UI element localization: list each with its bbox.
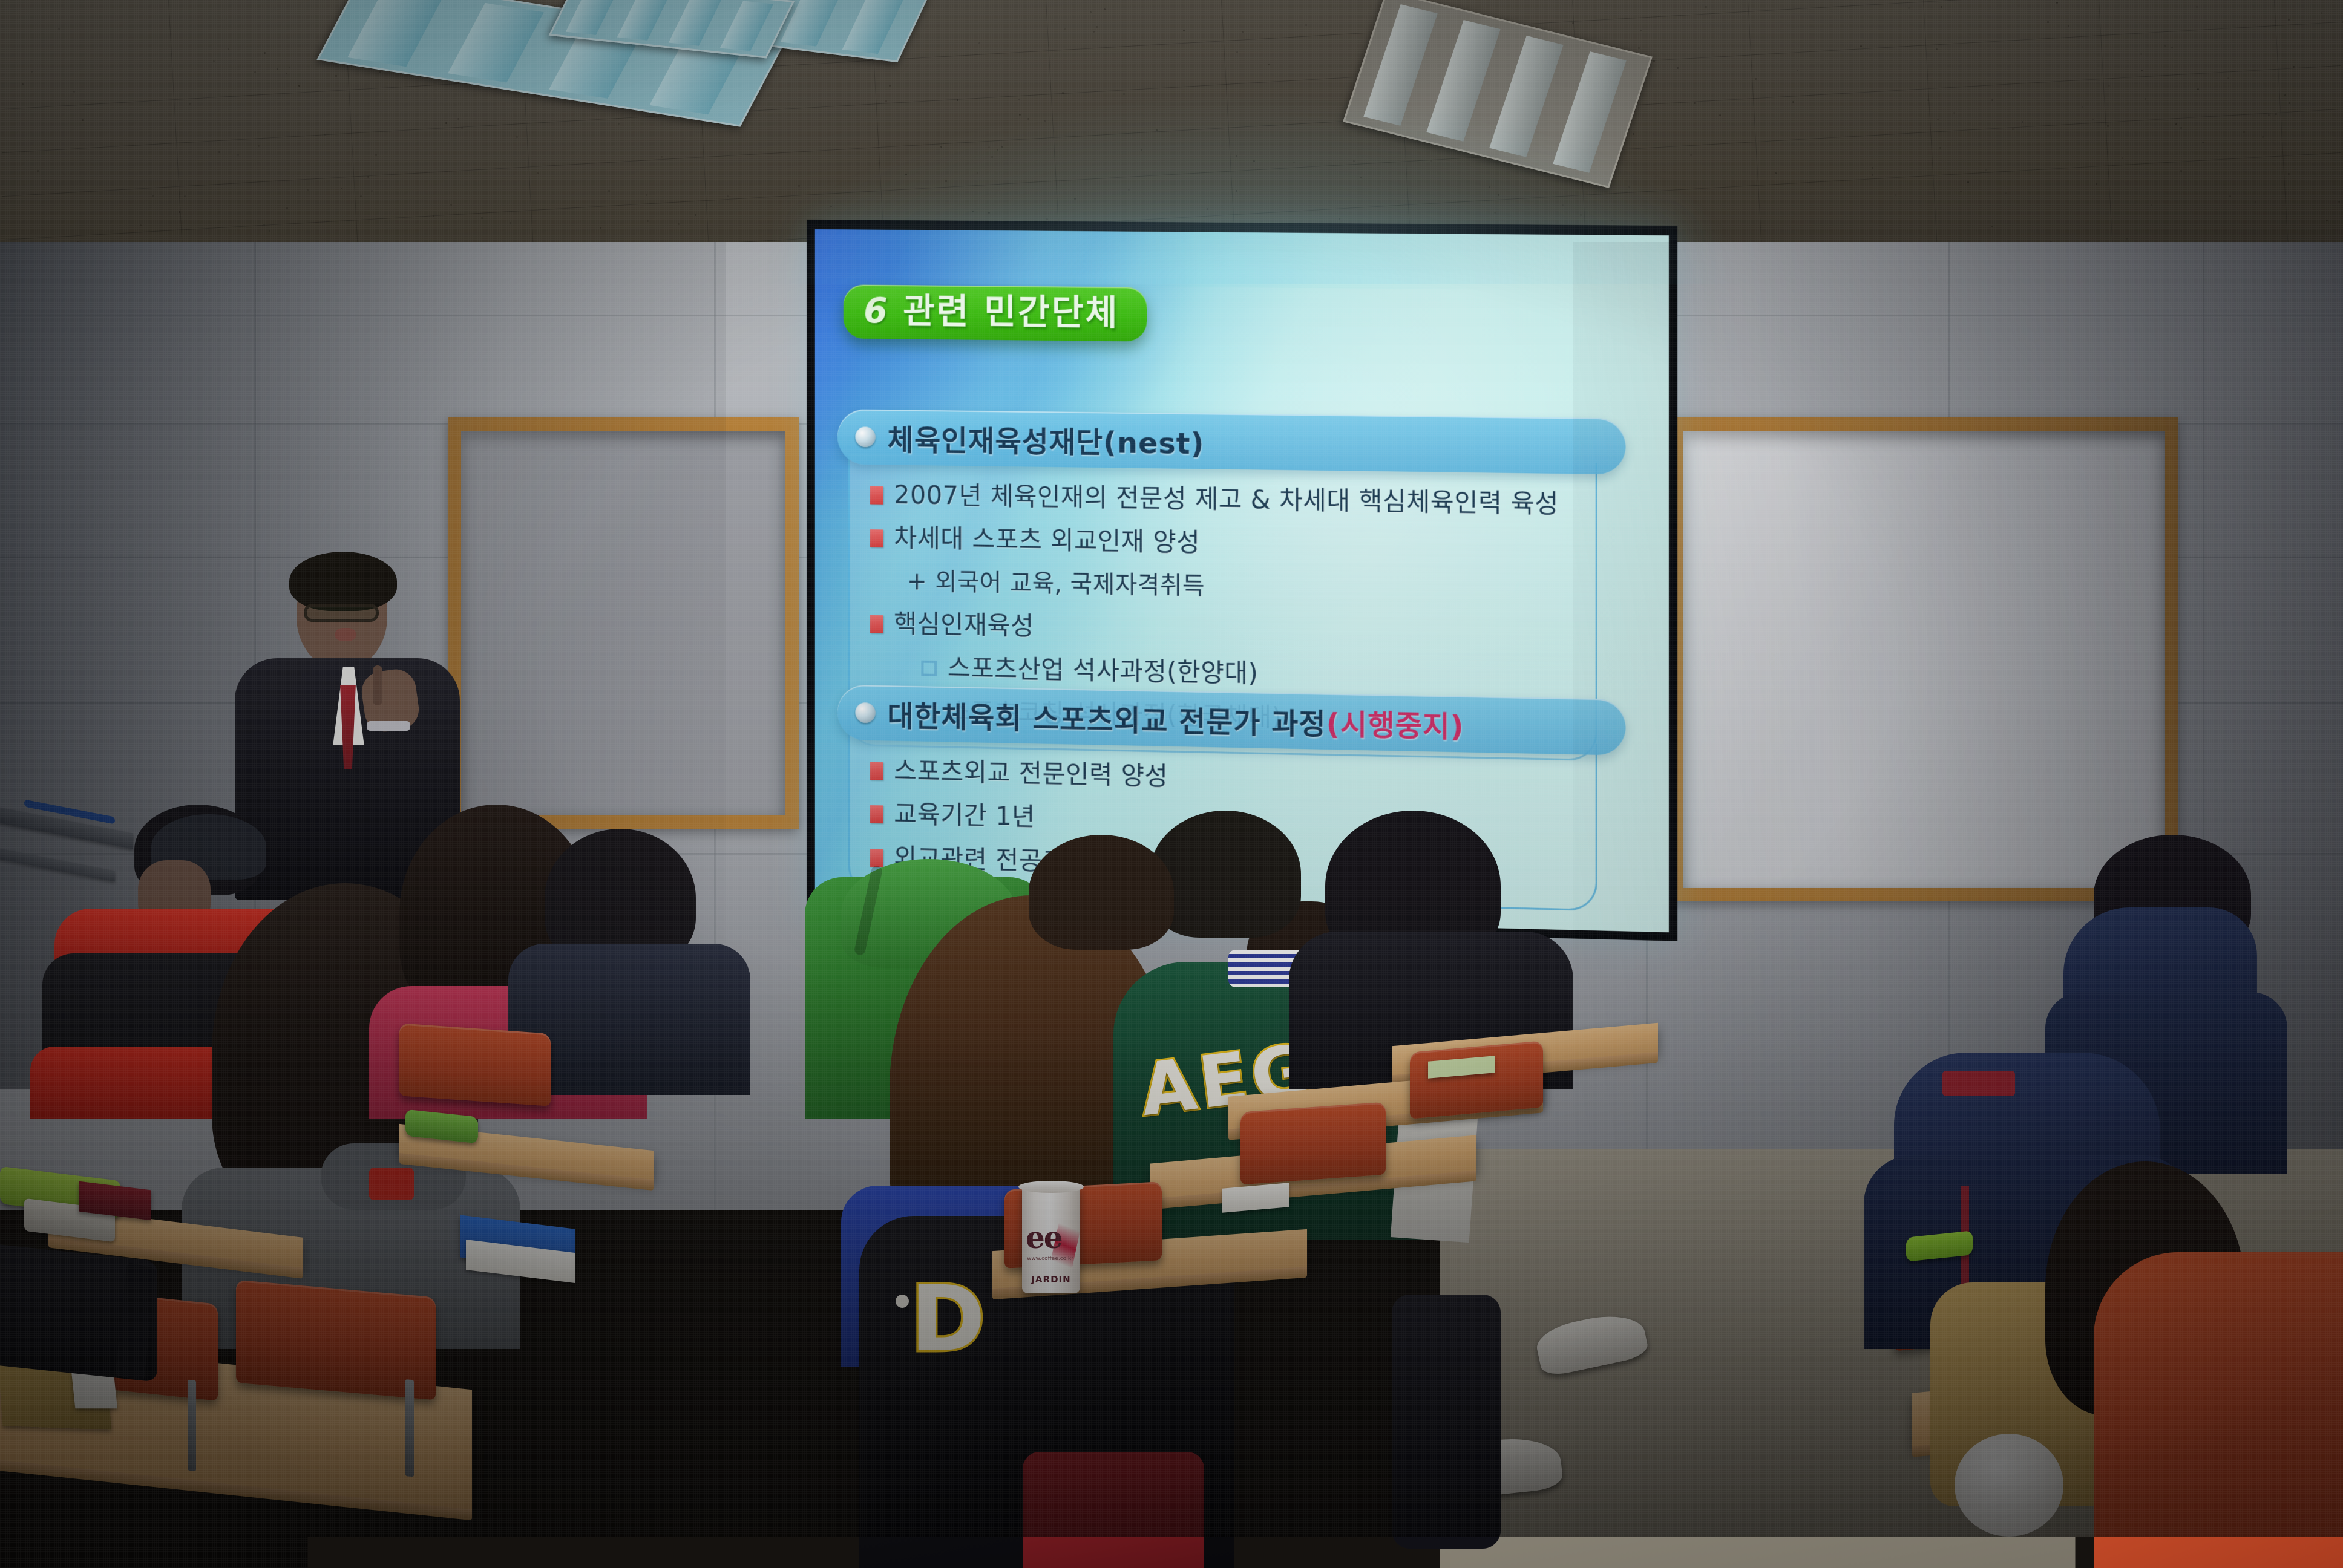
ceiling-speck xyxy=(1044,120,1046,122)
ceiling-speck xyxy=(341,188,342,189)
presenter-watch xyxy=(367,721,410,731)
desk-edge xyxy=(0,1452,472,1521)
ceiling-tile-line xyxy=(1748,0,1763,260)
ceiling-speck xyxy=(905,174,907,175)
ceiling-speck xyxy=(140,224,142,226)
ceiling-speck xyxy=(2175,123,2177,125)
ceiling-speck xyxy=(228,48,229,50)
ceiling-speck xyxy=(1927,99,1929,101)
ceiling-speck xyxy=(885,100,887,102)
ceiling-speck xyxy=(1183,30,1185,31)
ceiling-speck xyxy=(184,195,186,197)
ceiling-speck xyxy=(1074,198,1076,200)
ceiling-speck xyxy=(1653,60,1655,62)
ceiling-speck xyxy=(269,230,270,232)
heading-main: 대한체육회 스포츠외교 전문가 과정 xyxy=(887,699,1326,742)
ceiling-speck xyxy=(258,145,260,147)
ceiling-speck xyxy=(1096,26,1098,28)
ceiling-speck xyxy=(1544,172,1545,174)
ceiling-speck xyxy=(58,28,60,30)
ceiling-speck xyxy=(1936,48,1938,50)
ceiling-speck xyxy=(481,217,483,219)
square-bullet-icon xyxy=(870,805,883,823)
ceiling-speck xyxy=(600,227,601,229)
ceiling-speck xyxy=(1498,194,1499,196)
ceiling-speck xyxy=(727,195,729,197)
ceiling-light-fixture xyxy=(1343,0,1653,188)
ceiling-speck xyxy=(2140,53,2142,55)
ceiling-speck xyxy=(1293,162,1295,163)
presenter-mouth xyxy=(335,628,356,641)
ceiling-speck xyxy=(1236,190,1237,192)
ceiling-speck xyxy=(1580,214,1582,216)
ceiling-speck xyxy=(1123,93,1125,95)
ceiling-speck xyxy=(972,211,974,212)
ceiling-speck xyxy=(1908,7,1910,9)
ceiling-speck xyxy=(37,170,39,172)
ceiling-speck xyxy=(1628,186,1630,188)
ceiling-speck xyxy=(1093,31,1095,33)
slide-bullet-text: 교육기간 1년 xyxy=(894,800,1035,832)
ceiling-speck xyxy=(978,42,980,44)
ceiling-speck xyxy=(289,67,290,68)
ceiling-speck xyxy=(189,103,191,105)
ceiling-speck xyxy=(2202,142,2204,143)
slide-group-1-heading: 체육인재육성재단(nest) xyxy=(837,409,1626,474)
slide-bullet-text: 스포츠산업 석사과정(한양대) xyxy=(948,653,1259,688)
slide-bullet-text: 차세대 스포츠 외교인재 양성 xyxy=(894,524,1200,558)
ceiling-speck xyxy=(1937,119,1939,120)
ceiling-speck xyxy=(510,222,511,224)
slide-title: 6 관련 민간단체 xyxy=(844,284,1147,341)
ceiling-speck xyxy=(218,151,220,153)
ceiling-speck xyxy=(264,52,266,54)
ceiling-speck xyxy=(367,176,369,178)
ceiling-speck xyxy=(618,123,620,125)
ceiling-speck xyxy=(945,180,947,182)
ceiling-speck xyxy=(450,204,452,206)
ceiling-speck xyxy=(1001,146,1003,148)
ceiling-speck xyxy=(1953,112,1955,114)
ceiling-speck xyxy=(2197,88,2199,90)
ceiling-speck xyxy=(1046,218,1048,220)
ceiling-speck xyxy=(1755,78,1757,80)
ceiling-tile-line xyxy=(1923,0,1938,260)
ceiling-speck xyxy=(988,146,990,148)
ceiling-tile-line xyxy=(2099,0,2114,260)
ceiling-speck xyxy=(830,206,832,207)
light-louver xyxy=(669,0,722,46)
ceiling-speck xyxy=(1207,208,1208,210)
ceiling-speck xyxy=(213,60,215,62)
ceiling-speck xyxy=(2229,195,2231,197)
cup-fine-print: www.coffee.co.kr xyxy=(1027,1256,1066,1263)
ceiling-speck xyxy=(152,195,154,197)
ceiling-speck xyxy=(2180,170,2182,172)
ceiling-speck xyxy=(1236,51,1238,53)
ceiling-speck xyxy=(1253,160,1255,162)
heading-suffix: (시행중지) xyxy=(1326,708,1464,745)
slide-bullet-text: 핵심인재육성 xyxy=(894,609,1034,641)
ceiling-speck xyxy=(678,223,680,225)
slide-bullet: 스포츠외교 전문인력 양성 xyxy=(870,756,1577,800)
ceiling-speck xyxy=(2164,45,2166,47)
ceiling-speck xyxy=(1268,64,1270,65)
ceiling-speck xyxy=(1489,186,1490,188)
ceiling-speck xyxy=(2268,114,2270,116)
square-bullet-icon xyxy=(870,615,883,633)
ceiling-speck xyxy=(82,119,84,121)
ceiling-speck xyxy=(1939,147,1941,149)
coffee-cup[interactable]: ee www.coffee.co.kr JARDIN xyxy=(1022,1184,1080,1293)
ceiling-speck xyxy=(1705,6,1707,8)
ceiling-tile-line xyxy=(2,65,2341,197)
square-bullet-icon xyxy=(870,529,883,547)
jacket-snap-button xyxy=(896,1295,909,1308)
cup-brand-text: JARDIN xyxy=(1022,1274,1080,1285)
slide-bullet-text: 스포츠외교 전문인력 양성 xyxy=(894,756,1168,791)
ceiling-speck xyxy=(1960,191,1962,192)
ceiling-speck xyxy=(2082,106,2083,108)
ceiling-speck xyxy=(2338,201,2340,203)
light-louver xyxy=(566,0,619,35)
ceiling-speck xyxy=(1430,160,1432,162)
ceiling-speck xyxy=(1775,172,1777,174)
ceiling-speck xyxy=(2289,102,2290,104)
ceiling-speck xyxy=(1860,45,1862,47)
ceiling-speck xyxy=(1242,31,1244,33)
ceiling-speck xyxy=(1141,149,1142,151)
ceiling-speck xyxy=(988,212,990,214)
ceiling-speck xyxy=(2092,119,2094,120)
bullet-sphere-icon xyxy=(855,426,875,447)
ceiling-speck xyxy=(1064,28,1066,30)
ceiling-speck xyxy=(2012,128,2014,130)
ceiling-speck xyxy=(2108,85,2110,87)
ceiling-speck xyxy=(2145,98,2146,100)
light-louver xyxy=(720,1,773,51)
ceiling-speck xyxy=(445,122,447,124)
slide-bullet-text: + 외국어 교육, 국제자격취득 xyxy=(907,567,1205,600)
ceiling-speck xyxy=(379,71,381,73)
ceiling-speck xyxy=(2126,238,2128,240)
orange-jacket-body xyxy=(2094,1252,2343,1568)
ceiling-speck xyxy=(2005,192,2007,194)
ceiling-speck xyxy=(1985,169,1987,171)
ceiling-speck xyxy=(286,207,288,209)
ceiling-speck xyxy=(22,83,24,85)
ceiling-speck xyxy=(263,224,265,226)
ceiling-speck xyxy=(1633,133,1634,135)
ceiling-speck xyxy=(371,190,373,192)
slide-title-number: 6 xyxy=(863,293,888,328)
ceiling-speck xyxy=(335,75,337,77)
student-orange-jacket xyxy=(2069,1216,2343,1568)
ceiling-speck xyxy=(1694,102,1696,104)
chair-left-c xyxy=(236,1280,436,1400)
ceiling-speck xyxy=(537,172,539,174)
ceiling-speck xyxy=(2047,21,2049,23)
glasses-icon xyxy=(304,604,379,622)
ceiling-speck xyxy=(1611,220,1613,221)
square-bullet-icon xyxy=(870,762,883,780)
ceiling-tile-line xyxy=(2,109,2341,240)
ceiling-speck xyxy=(997,149,998,151)
square-bullet-icon xyxy=(870,486,883,505)
ceiling-speck xyxy=(1104,8,1106,10)
ceiling-speck xyxy=(2180,127,2182,129)
ceiling-tile-line xyxy=(168,0,183,260)
ceiling-speck xyxy=(1562,204,1564,206)
chair-leg xyxy=(405,1379,414,1477)
ceiling-speck xyxy=(179,211,180,213)
light-louver xyxy=(617,0,670,41)
ceiling-tile-line xyxy=(2274,0,2289,260)
chair-center-b xyxy=(1240,1102,1386,1185)
ceiling-speck xyxy=(2151,204,2152,206)
ceiling-speck xyxy=(608,190,610,192)
student-dark-jacket-left xyxy=(520,829,738,1071)
chair-leg xyxy=(188,1380,196,1471)
ceiling-speck xyxy=(1872,167,1873,169)
presenter-finger xyxy=(373,665,382,705)
ceiling-speck xyxy=(2056,2,2058,4)
hoodie-logo xyxy=(369,1168,414,1200)
ceiling-speck xyxy=(237,154,239,156)
slide-title-text: 관련 민간단체 xyxy=(903,293,1119,330)
ceiling-speck xyxy=(2288,173,2290,175)
ceiling-speck xyxy=(647,220,649,222)
ceiling-speck xyxy=(254,71,256,73)
slide-group-1-heading-text: 체육인재육성재단(nest) xyxy=(887,416,1204,462)
ceiling-speck xyxy=(889,85,891,87)
ceiling-speck xyxy=(2321,12,2322,14)
ceiling-speck xyxy=(2141,70,2143,71)
ceiling-speck xyxy=(2288,19,2290,21)
slide-bullet: 2007년 체육인재의 전문성 제고 & 차세대 핵심체육인력 육성 xyxy=(870,480,1577,519)
ceiling-speck xyxy=(2068,25,2069,27)
ceiling-speck xyxy=(798,185,800,187)
ceiling-speck xyxy=(461,127,463,129)
ceiling-speck xyxy=(2107,125,2109,127)
ceiling-speck xyxy=(2243,131,2245,133)
ceiling-speck xyxy=(957,99,958,101)
ceiling-speck xyxy=(2262,136,2264,138)
ceiling-speck xyxy=(1872,174,1873,176)
ceiling-speck xyxy=(1638,47,1640,49)
ceiling-speck xyxy=(307,189,309,191)
ceiling-speck xyxy=(977,172,978,174)
ceiling-speck xyxy=(2326,220,2328,221)
fur-pompom xyxy=(1955,1434,2063,1537)
light-louver xyxy=(1553,51,1627,173)
ceiling-speck xyxy=(646,194,647,196)
hollow-square-bullet-icon xyxy=(921,661,937,676)
ceiling-speck xyxy=(1128,189,1130,191)
presenter-hair xyxy=(289,552,397,611)
ceiling-speck xyxy=(1090,11,1092,13)
student-dark-coat-center xyxy=(1307,811,1567,1065)
ceiling-speck xyxy=(2096,183,2097,185)
ceiling-speck xyxy=(695,214,696,216)
light-louver xyxy=(347,0,444,67)
ceiling-speck xyxy=(324,134,326,136)
ceiling-speck xyxy=(1719,114,1721,116)
ceiling-speck xyxy=(1991,99,1993,101)
student-dark-head-b xyxy=(1029,835,1210,1016)
ceiling-speck xyxy=(1027,118,1029,120)
ceiling-speck xyxy=(1339,218,1340,220)
slide-bullet: 핵심인재육성 xyxy=(870,609,1577,650)
ceiling-speck xyxy=(1018,99,1020,100)
chair-back-right xyxy=(1410,1040,1543,1119)
light-louver xyxy=(1426,20,1500,142)
ceiling-speck xyxy=(1792,101,1794,103)
ceiling-tile-line xyxy=(1221,0,1236,260)
ceiling xyxy=(0,0,2343,260)
ceiling-speck xyxy=(1640,30,1642,31)
slide-bullet: 차세대 스포츠 외교인재 양성 xyxy=(870,523,1577,563)
ceiling-speck xyxy=(2275,113,2277,115)
ceiling-speck xyxy=(2284,94,2286,96)
light-louver xyxy=(842,0,905,54)
ceiling-speck xyxy=(1967,181,1969,183)
ceiling-speck xyxy=(1690,154,1692,156)
ceiling-speck xyxy=(1360,177,1362,178)
ceiling-speck xyxy=(2227,77,2229,79)
ceiling-speck xyxy=(940,146,942,148)
hood-label-patch xyxy=(1942,1071,2015,1096)
light-louver xyxy=(1363,4,1437,126)
varsity-letter-d: D xyxy=(910,1274,986,1365)
cup-logo-text: ee xyxy=(1026,1220,1062,1255)
ceiling-speck xyxy=(1305,24,1307,26)
ceiling-speck xyxy=(661,156,663,158)
ceiling-speck xyxy=(2196,6,2198,8)
classroom-photo-scene: 6 관련 민간단체 체육인재육성재단(nest) 2007년 체육인재의 전문성… xyxy=(0,0,2343,1568)
light-louver xyxy=(448,3,544,83)
seated-legs-dark xyxy=(1392,1295,1501,1549)
ceiling-speck xyxy=(277,68,278,70)
ceiling-speck xyxy=(1797,70,1798,71)
ceiling-speck xyxy=(991,156,993,158)
ceiling-speck xyxy=(1019,114,1021,116)
ceiling-speck xyxy=(1494,212,1496,214)
slide-bullet-text: 2007년 체육인재의 전문성 제고 & 차세대 핵심체육인력 육성 xyxy=(894,480,1559,518)
ceiling-speck xyxy=(1991,226,1993,227)
ceiling-speck xyxy=(1941,6,1942,8)
ceiling-speck xyxy=(433,215,434,217)
ceiling-speck xyxy=(2171,47,2173,48)
ceiling-speck xyxy=(298,85,300,87)
ceiling-speck xyxy=(2122,157,2123,159)
ceiling-speck xyxy=(31,71,33,73)
ceiling-speck xyxy=(1895,194,1896,196)
backpack-under-desk[interactable] xyxy=(1023,1452,1204,1568)
ceiling-speck xyxy=(457,118,459,120)
slide-group-2-heading-text: 대한체육회 스포츠외교 전문가 과정(시행중지) xyxy=(887,692,1464,745)
slide-bullet-sub: + 외국어 교육, 국제자격취득 xyxy=(907,567,1577,606)
ceiling-speck xyxy=(2022,121,2023,123)
ceiling-speck xyxy=(73,91,75,93)
ceiling-speck xyxy=(1353,160,1355,162)
light-louver xyxy=(1490,36,1564,157)
ceiling-speck xyxy=(286,73,287,74)
ceiling-speck xyxy=(516,136,518,138)
chair-left-a xyxy=(399,1023,551,1106)
ceiling-speck xyxy=(2255,201,2256,203)
ceiling-speck xyxy=(360,195,362,197)
cup-rim xyxy=(1018,1181,1084,1193)
ceiling-speck xyxy=(1677,67,1679,69)
ceiling-speck xyxy=(1062,92,1064,94)
bullet-sphere-icon xyxy=(855,702,875,723)
ceiling-speck xyxy=(375,154,377,156)
ceiling-speck xyxy=(1236,155,1237,157)
ceiling-speck xyxy=(1572,22,1574,24)
student-hair xyxy=(1029,835,1174,950)
